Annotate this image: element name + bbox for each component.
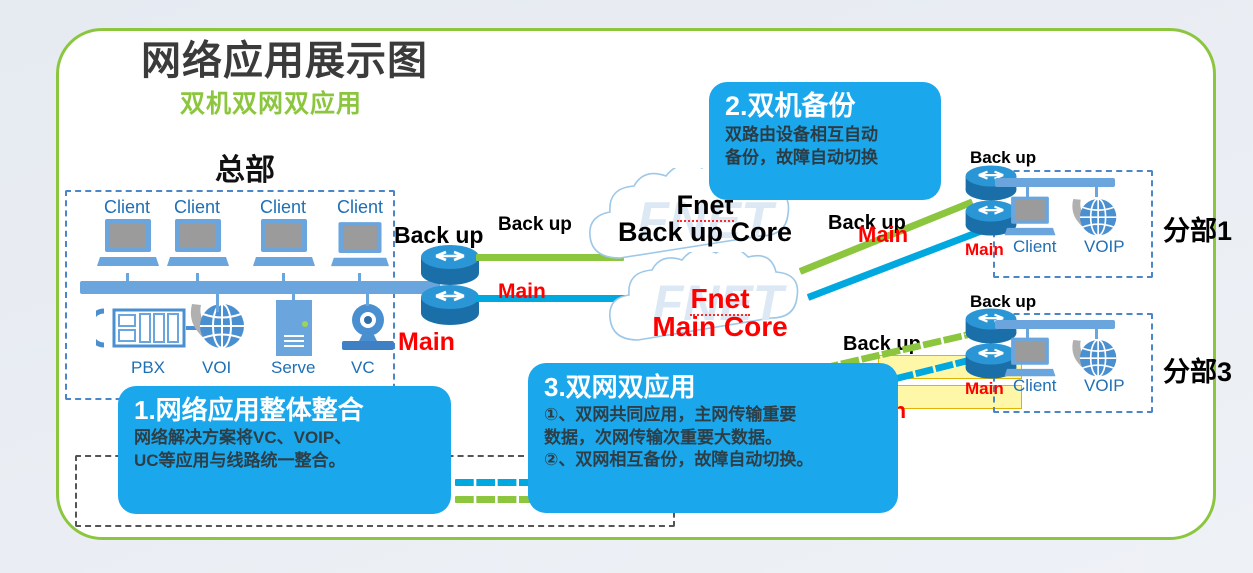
hq-client-stub-1 (126, 273, 129, 285)
diagram-canvas: 网络应用展示图 双机双网双应用 总部 Client Client Client … (0, 0, 1253, 573)
hq-server-stub (292, 290, 295, 302)
hq-client-label-4: Client (337, 199, 381, 217)
branch-3-title: 分部3 (1163, 350, 1232, 389)
callout-3[interactable]: 3.双网双应用 ①、双网共同应用，主网传输重要 数据，次网传输次重要大数据。 ②… (528, 363, 898, 513)
server-icon (272, 298, 316, 358)
callout-2[interactable]: 2.双机备份 双路由设备相互自动 备份，故障自动切换 (709, 82, 941, 200)
hq-device-label-vc: VC (351, 358, 375, 378)
callout-1[interactable]: 1.网络应用整体整合 网络解决方案将VC、VOIP、 UC等应用与线路统一整合。 (118, 386, 451, 514)
hq-client-stub-3 (282, 273, 285, 285)
callout-3-line-1: ①、双网共同应用，主网传输重要 (544, 404, 882, 427)
branch-1-client-stub (1026, 185, 1029, 197)
branch-1-client-label: Client (1013, 239, 1053, 256)
branch-3-voip-stub (1095, 327, 1098, 339)
page-subtitle: 双机双网双应用 (180, 84, 362, 120)
hq-vc-stub (366, 290, 369, 306)
hq-client-label-2: Client (174, 199, 218, 217)
branch-1-title: 分部1 (1163, 209, 1232, 248)
callout-3-line-3: ②、双网相互备份，故障自动切换。 (544, 449, 882, 472)
core-branch1-main-label: Main (858, 222, 908, 248)
hq-device-label-server: Serve (271, 358, 315, 378)
hq-voip-stub (216, 290, 219, 312)
branch-1-voip-stub (1095, 185, 1098, 197)
callout-1-title: 1.网络应用整体整合 (134, 395, 435, 425)
hq-bus-line (80, 281, 440, 294)
cloud-backup-core-line2: Back up Core (600, 219, 810, 247)
hq-client-stub-4 (358, 273, 361, 285)
router-icon (418, 283, 482, 327)
callout-2-line-2: 备份，故障自动切换 (725, 147, 925, 170)
hq-client-label-1: Client (104, 199, 148, 217)
hq-device-label-pbx: PBX (131, 358, 165, 378)
laptop-icon (253, 217, 315, 273)
headquarters-title: 总部 (215, 145, 275, 189)
callout-3-title: 3.双网双应用 (544, 372, 882, 402)
cloud-main-core-line2: Main Core (620, 313, 820, 342)
laptop-icon (331, 220, 389, 273)
branch-1-router-main-label: Main (965, 240, 1004, 260)
hq-backup-link-label: Back up (498, 214, 572, 236)
laptop-icon (167, 217, 229, 273)
callout-1-line-2: UC等应用与线路统一整合。 (134, 450, 435, 473)
callout-3-body: ①、双网共同应用，主网传输重要 数据，次网传输次重要大数据。 ②、双网相互备份，… (544, 404, 882, 472)
pbx-icon (96, 305, 188, 351)
callout-2-line-1: 双路由设备相互自动 (725, 124, 925, 147)
vc-camera-icon (338, 303, 398, 355)
branch-1-voip-label: VOIP (1084, 239, 1114, 256)
branch-3-client-label: Client (1013, 378, 1053, 395)
voip-globe-icon (1068, 194, 1120, 242)
callout-3-line-2: 数据，次网传输次重要大数据。 (544, 427, 882, 450)
hq-client-label-3: Client (260, 199, 304, 217)
router-icon (418, 243, 482, 287)
page-title: 网络应用展示图 (141, 28, 428, 86)
laptop-icon (97, 217, 159, 273)
callout-2-body: 双路由设备相互自动 备份，故障自动切换 (725, 124, 925, 169)
hq-router-main-label: Main (398, 328, 455, 357)
callout-2-title: 2.双机备份 (725, 91, 925, 122)
hq-device-label-voip: VOI (202, 358, 231, 378)
cloud-main-core-line1: Fnet (620, 285, 820, 314)
hq-main-link-label: Main (498, 280, 546, 304)
callout-1-line-1: 网络解决方案将VC、VOIP、 (134, 427, 435, 450)
laptop-icon (1004, 195, 1056, 241)
branch-3-router-main-label: Main (965, 379, 1004, 399)
branch-3-client-stub (1026, 327, 1029, 339)
branch-3-voip-label: VOIP (1084, 378, 1114, 395)
callout-1-body: 网络解决方案将VC、VOIP、 UC等应用与线路统一整合。 (134, 427, 435, 472)
hq-client-stub-2 (196, 273, 199, 285)
